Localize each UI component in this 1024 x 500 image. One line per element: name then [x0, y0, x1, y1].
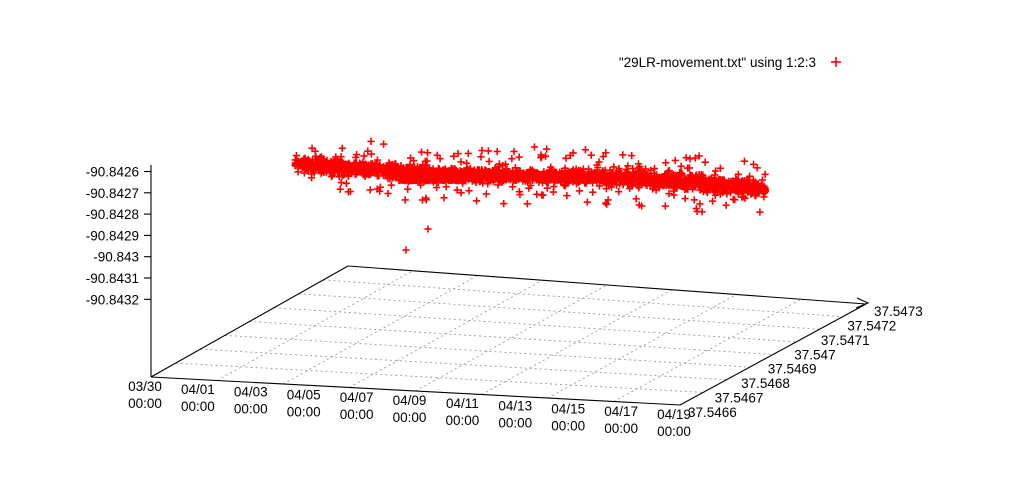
data-point: [384, 190, 391, 197]
x-tick-time: 00:00: [181, 399, 215, 414]
data-point: [741, 158, 748, 165]
x-tick-date: 04/11: [446, 396, 479, 411]
x-tick-label: 04/0300:00: [234, 385, 268, 417]
x-tick-date: 04/09: [393, 393, 427, 408]
data-point: [500, 200, 507, 207]
data-point: [509, 183, 516, 190]
x-tick-time: 00:00: [340, 407, 374, 422]
data-point: [404, 186, 411, 193]
data-point: [691, 196, 698, 203]
legend-plus-icon: [831, 57, 841, 67]
z-axis: [144, 165, 151, 377]
x-tick-label: 04/0700:00: [340, 390, 374, 422]
base-back-left-edge: [151, 266, 348, 377]
data-point: [588, 152, 595, 159]
legend-label: "29LR-movement.txt" using 1:2:3: [619, 55, 816, 70]
data-point: [465, 187, 472, 194]
data-point: [589, 189, 596, 196]
data-point: [486, 158, 493, 165]
x-tick-date: 04/13: [498, 399, 532, 414]
z-tick-label: -90.8432: [86, 292, 139, 307]
gnuplot-canvas: -90.8426-90.8427-90.8428-90.8429-90.843-…: [0, 0, 1024, 500]
x-tick-label: 04/1700:00: [604, 404, 638, 436]
data-point: [628, 152, 635, 159]
data-point: [337, 186, 344, 193]
x-tick-date: 04/19: [657, 407, 691, 422]
data-point: [682, 195, 689, 202]
y-tick-label: 37.5466: [688, 405, 737, 420]
data-point: [696, 200, 703, 207]
scatter-points: [292, 138, 770, 254]
x-tick-label: 04/0500:00: [287, 387, 321, 419]
data-point: [494, 148, 501, 155]
data-point: [539, 192, 546, 199]
data-point: [510, 148, 517, 155]
data-point: [544, 185, 551, 192]
z-tick-label: -90.8429: [86, 228, 139, 243]
x-tick-date: 04/05: [287, 387, 321, 402]
x-tick-date: 04/07: [340, 390, 374, 405]
base-back-right-edge: [348, 266, 866, 304]
y-tick-label: 37.5471: [821, 333, 870, 348]
data-point: [440, 194, 447, 201]
data-point: [483, 190, 490, 197]
x-tick-time: 00:00: [551, 418, 585, 433]
data-point: [380, 141, 387, 148]
data-point: [478, 147, 485, 154]
plot-svg: -90.8426-90.8427-90.8428-90.8429-90.843-…: [0, 0, 1024, 500]
x-tick-date: 04/03: [234, 385, 268, 400]
x-tick-date: 04/17: [604, 404, 638, 419]
x-tick-date: 03/30: [128, 379, 162, 394]
z-tick-marks: [144, 172, 151, 300]
data-point: [524, 200, 531, 207]
data-point: [424, 225, 431, 232]
x-tick-time: 00:00: [498, 416, 532, 431]
data-point: [463, 160, 470, 167]
data-point: [756, 208, 763, 215]
data-point: [619, 151, 626, 158]
data-point: [477, 153, 484, 160]
x-tick-label: 04/1300:00: [498, 399, 532, 431]
data-point: [731, 196, 738, 203]
data-point: [473, 197, 480, 204]
x-tick-time: 00:00: [234, 402, 268, 417]
x-tick-label: 04/1500:00: [551, 401, 585, 433]
data-point: [550, 188, 557, 195]
x-tick-time: 00:00: [604, 421, 638, 436]
data-point: [367, 138, 374, 145]
x-tick-label: 03/3000:00: [128, 379, 162, 411]
data-point: [563, 192, 570, 199]
data-point: [662, 159, 669, 166]
data-point: [424, 149, 431, 156]
y-tick-label: 37.5472: [847, 318, 896, 333]
x-tick-time: 00:00: [446, 413, 480, 428]
data-point: [465, 150, 472, 157]
data-point: [343, 180, 350, 187]
legend[interactable]: "29LR-movement.txt" using 1:2:3: [619, 55, 841, 70]
data-point: [339, 145, 346, 152]
y-tick-label: 37.5468: [741, 376, 790, 391]
x-tick-time: 00:00: [657, 424, 691, 439]
data-point: [485, 147, 492, 154]
x-tick-label: 04/1900:00: [657, 407, 691, 439]
data-point: [443, 183, 450, 190]
y-tick-label: 37.5469: [768, 362, 817, 377]
data-point: [678, 163, 685, 170]
y-tick-label: 37.5467: [715, 391, 764, 406]
data-point: [508, 155, 515, 162]
data-point: [531, 143, 538, 150]
data-point: [683, 154, 690, 161]
x-tick-time: 00:00: [393, 410, 427, 425]
data-point: [360, 152, 367, 159]
data-point: [754, 164, 761, 171]
data-point: [402, 196, 409, 203]
data-point: [686, 155, 693, 162]
data-point: [662, 202, 669, 209]
x-tick-label: 04/0900:00: [393, 393, 427, 425]
data-point: [603, 201, 610, 208]
z-tick-labels: -90.8426-90.8427-90.8428-90.8429-90.843-…: [86, 165, 139, 308]
y-tick-label: 37.5473: [874, 304, 923, 319]
data-point: [516, 154, 523, 161]
data-point: [702, 159, 709, 166]
data-point: [576, 187, 583, 194]
x-tick-time: 00:00: [287, 404, 321, 419]
data-point: [722, 202, 729, 209]
x-tick-date: 04/01: [181, 382, 215, 397]
x-tick-date: 04/15: [551, 401, 585, 416]
data-point: [615, 188, 622, 195]
y-tick-label: 37.547: [794, 347, 835, 362]
y-tick-labels: 37.546637.546737.546837.546937.54737.547…: [688, 304, 923, 420]
x-tick-labels: 03/3000:0004/0100:0004/0300:0004/0500:00…: [128, 379, 691, 439]
data-point: [670, 191, 677, 198]
z-tick-label: -90.8428: [86, 207, 139, 222]
x-tick-label: 04/1100:00: [446, 396, 480, 428]
x-tick-time: 00:00: [128, 396, 162, 411]
z-tick-label: -90.8431: [86, 271, 139, 286]
data-point: [672, 157, 679, 164]
data-point: [584, 199, 591, 206]
data-point: [457, 158, 464, 165]
z-tick-label: -90.843: [93, 250, 139, 265]
data-point: [543, 145, 550, 152]
z-tick-label: -90.8426: [86, 165, 139, 180]
z-tick-label: -90.8427: [86, 186, 139, 201]
data-point: [388, 182, 395, 189]
data-point: [750, 161, 757, 168]
data-point: [367, 186, 374, 193]
data-point: [582, 146, 589, 153]
x-tick-label: 04/0100:00: [181, 382, 215, 414]
data-point: [402, 246, 409, 253]
